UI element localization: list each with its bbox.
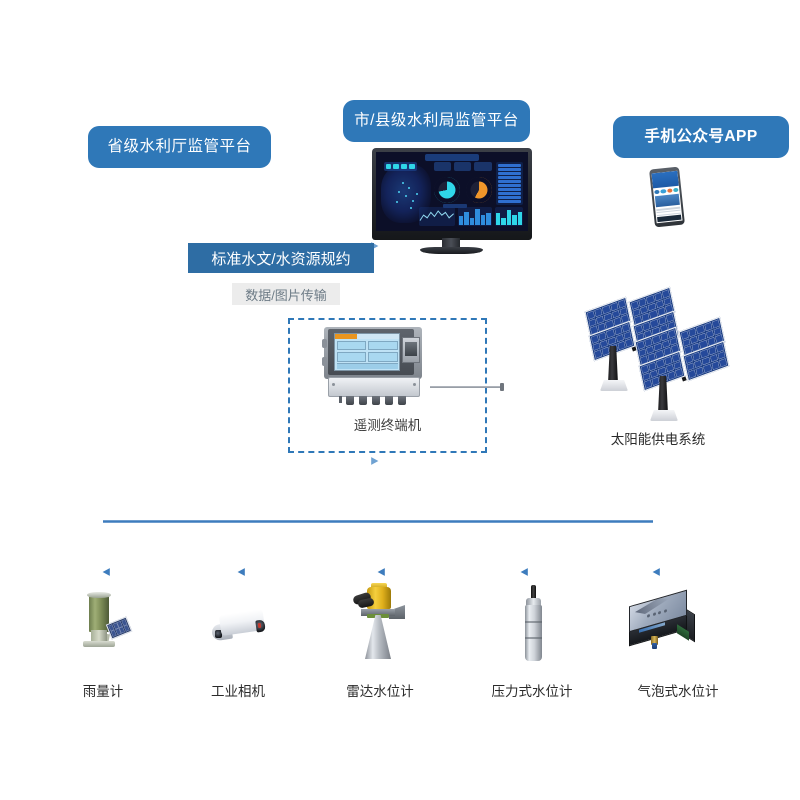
rtu-pigtail	[339, 396, 342, 403]
sensor-caption-rain-gauge: 雨量计	[48, 680, 158, 700]
dashboard-bar-chart	[458, 207, 491, 226]
pressure-probe-body	[525, 605, 542, 661]
mobile-app-box[interactable]: 手机公众号APP	[613, 116, 789, 158]
rtu-cable-glands	[346, 396, 406, 405]
dashboard-stat-cards	[434, 162, 492, 171]
protocol-box: 标准水文/水资源规约	[188, 243, 374, 273]
city-county-platform-label: 市/县级水利局监管平台	[354, 112, 519, 129]
pressure-level-gauge-icon	[505, 585, 563, 665]
rtu-lcd-statusbar	[337, 363, 398, 369]
dashboard-line-chart	[419, 207, 455, 226]
antenna-tip	[500, 383, 504, 391]
industrial-camera-icon	[208, 598, 270, 648]
dashboard-bar-chart-secondary	[495, 207, 524, 226]
radar-horn-antenna	[365, 615, 391, 659]
dashboard-donut-charts	[434, 176, 492, 204]
monitor-dashboard-screen	[376, 152, 528, 231]
rtu-lcd-panels	[335, 339, 399, 363]
rtu-hinge-top	[322, 339, 327, 348]
phone-app-footer	[657, 215, 681, 222]
rtu-terminal-icon	[322, 327, 425, 405]
radar-level-gauge-icon	[345, 583, 411, 663]
rain-gauge-icon	[75, 592, 135, 652]
rain-gauge-base	[83, 641, 115, 647]
rtu-db-connector-pins	[405, 342, 417, 356]
sensor-caption-bubbler: 气泡式水位计	[600, 680, 756, 700]
antenna-icon	[430, 386, 502, 388]
dashboard-kpi-chips	[384, 162, 417, 171]
rtu-screw-left	[332, 383, 335, 386]
rtu-hinge-bottom	[322, 357, 327, 366]
dashboard-title-bar	[425, 154, 480, 160]
sensor-caption-pressure: 压力式水位计	[454, 680, 610, 700]
bubbler-level-gauge-icon	[621, 588, 705, 658]
solar-base-left	[600, 380, 628, 391]
sensor-caption-camera: 工业相机	[183, 680, 293, 700]
desktop-monitor-icon	[372, 148, 532, 223]
transmission-label: 数据/图片传输	[245, 285, 327, 304]
provincial-platform-box[interactable]: 省级水利厅监管平台	[88, 126, 271, 168]
dashboard-bar-list	[496, 162, 523, 205]
rain-gauge-funnel-rim	[87, 592, 111, 598]
rain-gauge-solar-panel	[106, 616, 132, 639]
transmission-label-box: 数据/图片传输	[232, 283, 340, 305]
rtu-enclosure-base	[328, 377, 420, 397]
donut-chart-orange	[466, 177, 492, 203]
provincial-platform-label: 省级水利厅监管平台	[107, 138, 251, 155]
solar-base-right	[650, 410, 678, 421]
mobile-app-label: 手机公众号APP	[644, 128, 757, 145]
camera-ir-indicator	[258, 623, 262, 628]
rtu-lcd-screen[interactable]	[334, 333, 400, 371]
monitor-bezel	[372, 148, 532, 240]
solar-caption: 太阳能供电系统	[576, 428, 740, 448]
solar-panel-icon	[578, 292, 738, 427]
rtu-caption: 遥测终端机	[288, 414, 487, 434]
phone-body	[649, 167, 685, 228]
donut-chart-cyan	[434, 177, 460, 203]
monitor-stand-base	[420, 247, 483, 254]
bubbler-valve	[652, 643, 657, 649]
rtu-screw-right	[413, 383, 416, 386]
pressure-probe-ring-2	[525, 637, 542, 639]
smartphone-icon	[652, 168, 682, 226]
pressure-probe-ring-1	[525, 621, 542, 623]
phone-app-screen	[651, 171, 682, 223]
protocol-label: 标准水文/水资源规约	[211, 248, 350, 269]
sensor-caption-radar: 雷达水位计	[310, 680, 450, 700]
city-county-platform-box[interactable]: 市/县级水利局监管平台	[343, 100, 530, 142]
